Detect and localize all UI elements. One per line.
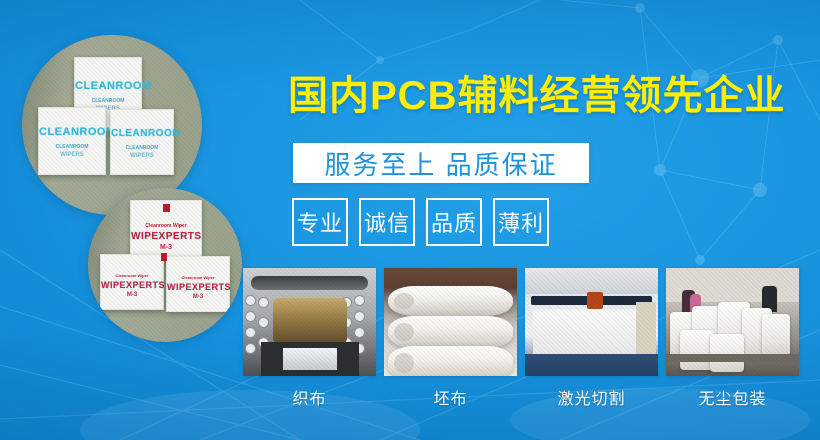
photo-laser-cutter — [525, 268, 658, 376]
process-step-cleanroom-packing: 无尘包装 — [666, 268, 799, 409]
keyword-label: 专业 — [297, 206, 343, 238]
photo-grain — [384, 268, 517, 376]
process-caption: 织布 — [243, 385, 376, 409]
process-step-weaving: 织布 — [243, 268, 376, 409]
process-step-greige-fabric: 坯布 — [384, 268, 517, 409]
keyword-label: 诚信 — [364, 206, 410, 238]
photo-grain — [243, 268, 376, 376]
photo-fabric-rolls — [384, 268, 517, 376]
keyword-box-professional: 专业 — [292, 198, 348, 246]
photo-wipexperts-packages: Cleanroom Wiper WIPEXPERTS M-3 Cleanroom… — [88, 188, 242, 342]
circle-photo-wipexperts: Cleanroom Wiper WIPEXPERTS M-3 Cleanroom… — [88, 188, 242, 342]
keyword-box-integrity: 诚信 — [359, 198, 415, 246]
photo-cleanroom-packing — [666, 268, 799, 376]
keyword-box-low-margin: 薄利 — [493, 198, 549, 246]
photo-grain — [525, 268, 658, 376]
keyword-box-row: 专业 诚信 品质 薄利 — [292, 198, 549, 246]
process-caption: 无尘包装 — [666, 385, 799, 409]
process-caption: 激光切割 — [525, 385, 658, 409]
photo-grain — [666, 268, 799, 376]
process-step-laser-cutting: 激光切割 — [525, 268, 658, 409]
tagline-band: 服务至上 品质保证 — [293, 143, 589, 183]
banner-headline: 国内PCB辅料经营领先企业 — [288, 74, 785, 118]
tagline-text: 服务至上 品质保证 — [324, 145, 557, 182]
process-photo-strip: 织布 坯布 激光切割 — [243, 268, 799, 409]
photo-knitting-machine — [243, 268, 376, 376]
photo-grain — [88, 188, 242, 342]
keyword-label: 品质 — [431, 206, 477, 238]
keyword-label: 薄利 — [498, 206, 544, 238]
keyword-box-quality: 品质 — [426, 198, 482, 246]
promo-banner: CLEANROOM CLEANROOM WIPERS CLEANROOM CLE… — [0, 0, 820, 440]
process-caption: 坯布 — [384, 385, 517, 409]
